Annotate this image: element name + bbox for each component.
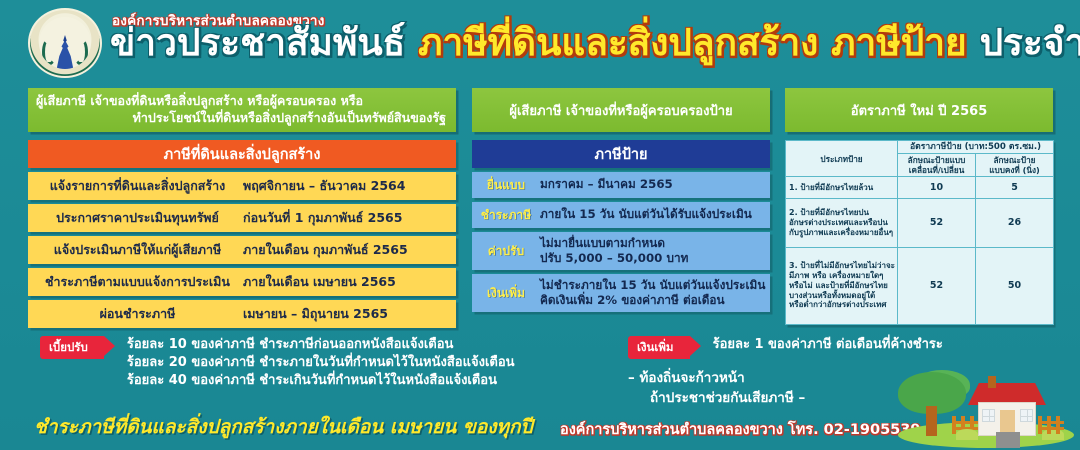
rate-table-header-moving: ลักษณะป้ายแบบเคลื่อนที่/เปลี่ยน xyxy=(898,154,976,177)
rate-table-cell-moving: 10 xyxy=(898,177,976,199)
land-tax-row-value: ภายในเดือน กุมภาพันธ์ 2565 xyxy=(243,240,456,260)
signboard-tax-row-label: เงินเพิ่ม xyxy=(472,284,540,303)
rate-table-cell-category: 3. ป้ายที่ไม่มีอักษรไทยไม่ว่าจะมีภาพ หรื… xyxy=(786,247,898,324)
land-tax-row: แจ้งรายการที่ดินและสิ่งปลูกสร้างพฤศจิกาย… xyxy=(28,172,456,200)
penalty-line: ร้อยละ 40 ของค่าภาษี ชำระเกินวันที่กำหนด… xyxy=(127,372,515,390)
banner-taxpayer-land: ผู้เสียภาษี เจ้าของที่ดินหรือสิ่งปลูกสร้… xyxy=(28,88,456,132)
penalty-fine-lines: ร้อยละ 10 ของค่าภาษี ชำระภาษีก่อนออกหนัง… xyxy=(127,336,515,390)
house-and-tree-illustration xyxy=(892,362,1080,450)
rate-table-row: 3. ป้ายที่ไม่มีอักษรไทยไม่ว่าจะมีภาพ หรื… xyxy=(786,247,1054,324)
rate-table-body: 1. ป้ายที่มีอักษรไทยล้วน1052. ป้ายที่มีอ… xyxy=(786,177,1054,325)
headline-part-taxes: ภาษีที่ดินและสิ่งปลูกสร้าง ภาษีป้าย xyxy=(418,21,967,64)
land-tax-row-label: แจ้งรายการที่ดินและสิ่งปลูกสร้าง xyxy=(28,176,243,196)
signboard-tax-row: ยื่นแบบมกราคม – มีนาคม 2565 xyxy=(472,172,770,198)
land-tax-section: ภาษีที่ดินและสิ่งปลูกสร้าง แจ้งรายการที่… xyxy=(28,140,456,328)
signboard-rate-table: ประเภทป้าย อัตราภาษีป้าย (บาท:500 ตร.ซม.… xyxy=(785,140,1053,325)
penalty-fine-block: เบี้ยปรับ ร้อยละ 10 ของค่าภาษี ชำระภาษีก… xyxy=(40,336,515,390)
banner-left-line-1: ผู้เสียภาษี เจ้าของที่ดินหรือสิ่งปลูกสร้… xyxy=(36,93,446,110)
penalty-fine-badge: เบี้ยปรับ xyxy=(40,336,104,359)
land-tax-row-value: ภายในเดือน เมษายน 2565 xyxy=(243,272,456,292)
land-tax-row-label: ประกาศราคาประเมินทุนทรัพย์ xyxy=(28,208,243,228)
land-tax-row-label: แจ้งประเมินภาษีให้แก่ผู้เสียภาษี xyxy=(28,240,243,260)
signboard-tax-row-value: ไม่ชำระภายใน 15 วัน นับแต่วันแจ้งประเมิน… xyxy=(540,278,770,309)
signboard-tax-row: ชำระภาษีภายใน 15 วัน นับแต่วันได้รับแจ้ง… xyxy=(472,202,770,228)
rate-table-header-fixed: ลักษณะป้ายแบบคงที่ (นิ่ง) xyxy=(976,154,1054,177)
footer-contact: องค์การบริหารส่วนตำบลคลองขวาง โทร. 02-19… xyxy=(560,418,920,441)
land-tax-row: ผ่อนชำระภาษีเมษายน – มิถุนายน 2565 xyxy=(28,300,456,328)
signboard-tax-row-label: ชำระภาษี xyxy=(472,206,540,225)
signboard-tax-row-label: ค่าปรับ xyxy=(472,242,540,261)
footer-slogan: ชำระภาษีที่ดินและสิ่งปลูกสร้างภายในเดือน… xyxy=(34,412,533,442)
signboard-tax-row-value: มกราคม – มีนาคม 2565 xyxy=(540,177,770,192)
land-tax-row-label: ชำระภาษีตามแบบแจ้งการประเมิน xyxy=(28,272,243,292)
window-icon xyxy=(1020,409,1033,422)
rate-table-cell-category: 1. ป้ายที่มีอักษรไทยล้วน xyxy=(786,177,898,199)
land-tax-rows: แจ้งรายการที่ดินและสิ่งปลูกสร้างพฤศจิกาย… xyxy=(28,172,456,328)
rate-table-header-group: อัตราภาษีป้าย (บาท:500 ตร.ซม.) xyxy=(898,141,1054,154)
rate-table-cell-fixed: 50 xyxy=(976,247,1054,324)
land-tax-row-value: ก่อนวันที่ 1 กุมภาพันธ์ 2565 xyxy=(243,208,456,228)
penalty-line: ร้อยละ 20 ของค่าภาษี ชำระภายในวันที่กำหน… xyxy=(127,354,515,372)
rate-table-row: 1. ป้ายที่มีอักษรไทยล้วน105 xyxy=(786,177,1054,199)
land-tax-row-value: เมษายน – มิถุนายน 2565 xyxy=(243,304,456,324)
fence-icon xyxy=(1038,416,1064,434)
headline-part-announcement: ข่าวประชาสัมพันธ์ xyxy=(110,21,405,64)
header: องค์การบริหารส่วนตำบลคลองขวาง ข่าวประชาส… xyxy=(0,0,1080,84)
signboard-tax-title: ภาษีป้าย xyxy=(472,140,770,168)
rate-table-cell-fixed: 5 xyxy=(976,177,1054,199)
rate-table-header-category: ประเภทป้าย xyxy=(786,141,898,177)
signboard-tax-row-value: ภายใน 15 วัน นับแต่วันได้รับแจ้งประเมิน xyxy=(540,207,770,222)
rate-table-cell-moving: 52 xyxy=(898,247,976,324)
land-tax-row-value: พฤศจิกายน – ธันวาคม 2564 xyxy=(243,176,456,196)
land-tax-row: แจ้งประเมินภาษีให้แก่ผู้เสียภาษีภายในเดื… xyxy=(28,236,456,264)
land-tax-row-label: ผ่อนชำระภาษี xyxy=(28,304,243,324)
signboard-tax-rows: ยื่นแบบมกราคม – มีนาคม 2565ชำระภาษีภายใน… xyxy=(472,172,770,312)
penalty-surcharge-badge: เงินเพิ่ม xyxy=(628,336,690,359)
penalty-line: ร้อยละ 10 ของค่าภาษี ชำระภาษีก่อนออกหนัง… xyxy=(127,336,515,354)
window-icon xyxy=(982,409,995,422)
land-tax-title: ภาษีที่ดินและสิ่งปลูกสร้าง xyxy=(28,140,456,168)
signboard-tax-row-value: ไม่มายื่นแบบตามกำหนดปรับ 5,000 – 50,000 … xyxy=(540,236,770,267)
signboard-tax-row: เงินเพิ่มไม่ชำระภายใน 15 วัน นับแต่วันแจ… xyxy=(472,274,770,312)
banner-new-rate-2565: อัตราภาษี ใหม่ ปี 2565 xyxy=(785,88,1053,132)
signboard-tax-row-label: ยื่นแบบ xyxy=(472,176,540,195)
rate-table-cell-category: 2. ป้ายที่มีอักษรไทยปนอักษรต่างประเทศและ… xyxy=(786,199,898,247)
rate-table-row: 2. ป้ายที่มีอักษรไทยปนอักษรต่างประเทศและ… xyxy=(786,199,1054,247)
page-title: ข่าวประชาสัมพันธ์ ภาษีที่ดินและสิ่งปลูกส… xyxy=(110,24,1080,61)
rate-table-cell-moving: 52 xyxy=(898,199,976,247)
banner-taxpayer-signboard: ผู้เสียภาษี เจ้าของที่หรือผู้ครอบครองป้า… xyxy=(472,88,770,132)
signboard-tax-section: ภาษีป้าย ยื่นแบบมกราคม – มีนาคม 2565ชำระ… xyxy=(472,140,770,312)
rate-table-cell-fixed: 26 xyxy=(976,199,1054,247)
municipality-seal-icon xyxy=(28,8,102,78)
land-tax-row: ประกาศราคาประเมินทุนทรัพย์ก่อนวันที่ 1 ก… xyxy=(28,204,456,232)
penalty-surcharge-lines: ร้อยละ 1 ของค่าภาษี ต่อเดือนที่ค้างชำระ xyxy=(713,336,943,354)
infographic-canvas: องค์การบริหารส่วนตำบลคลองขวาง ข่าวประชาส… xyxy=(0,0,1080,450)
signboard-tax-row: ค่าปรับไม่มายื่นแบบตามกำหนดปรับ 5,000 – … xyxy=(472,232,770,270)
door-icon xyxy=(1000,410,1015,434)
land-tax-row: ชำระภาษีตามแบบแจ้งการประเมินภายในเดือน เ… xyxy=(28,268,456,296)
banner-left-line-2: ทำประโยชน์ในที่ดินหรือสิ่งปลูกสร้างอันเป… xyxy=(36,110,446,127)
penalty-line: ร้อยละ 1 ของค่าภาษี ต่อเดือนที่ค้างชำระ xyxy=(713,336,943,354)
headline-part-year: ประจำปี 2565 xyxy=(980,21,1080,64)
